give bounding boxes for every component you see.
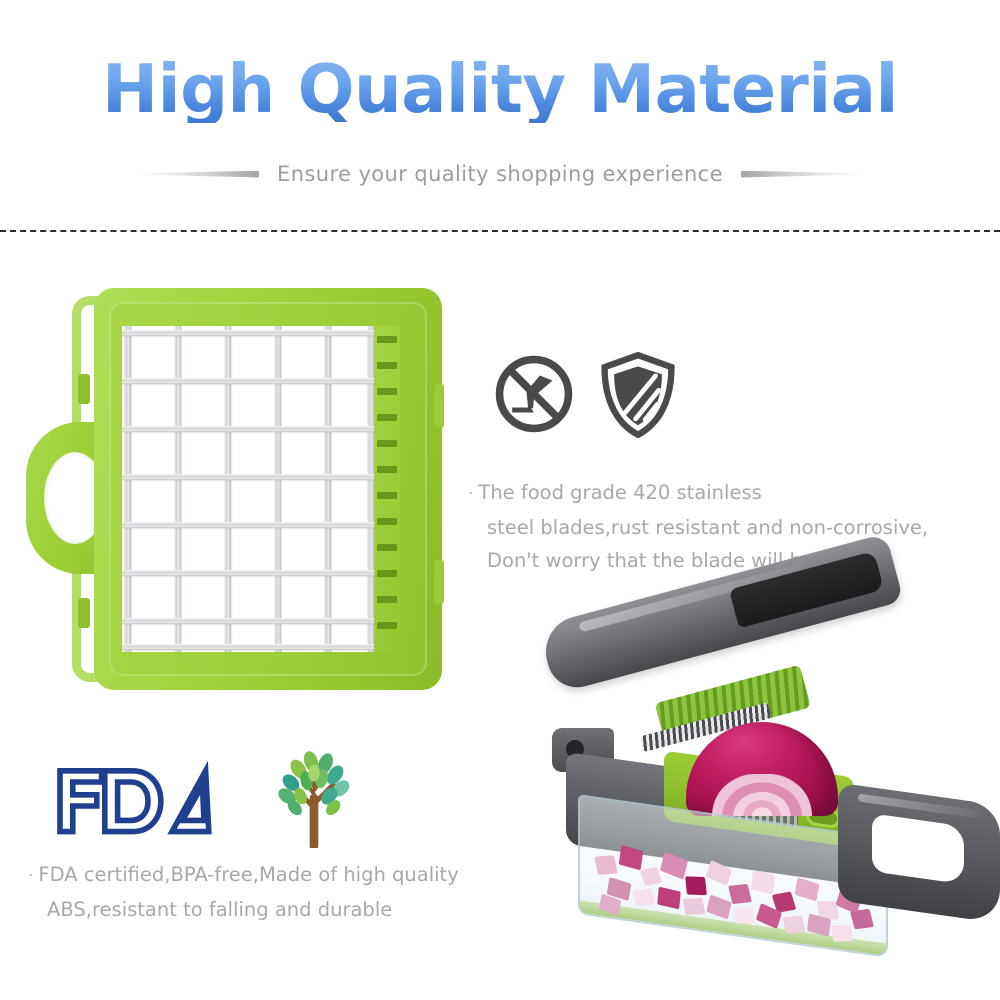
vertical-blade	[274, 326, 281, 652]
blade-slot	[377, 544, 397, 551]
vertical-blade	[367, 326, 374, 652]
onion-dice	[782, 916, 805, 934]
onion-rings	[712, 774, 812, 816]
onion-dice	[685, 876, 707, 895]
horizontal-blade	[122, 618, 400, 624]
fda-logo	[52, 758, 220, 843]
onion-dice	[706, 860, 732, 886]
vertical-blade	[224, 326, 231, 652]
insert-tab	[78, 374, 90, 404]
blade-feature-line-2-wrap: steel blades,rust resistant and non-corr…	[468, 511, 928, 544]
blade-slot	[377, 518, 397, 525]
no-bend-blade-icon	[492, 352, 576, 441]
insert-blade-slots	[374, 326, 400, 652]
blade-slot	[377, 440, 397, 447]
grip-highlight	[858, 793, 978, 818]
page-header: High Quality Material Ensure your qualit…	[0, 0, 1000, 232]
material-feature-line-2-wrap: ABS,resistant to falling and durable	[28, 893, 459, 926]
blade-slot	[377, 492, 397, 499]
dicing-blade-insert-image	[26, 288, 446, 690]
blade-slot	[377, 414, 397, 421]
horizontal-blade	[122, 474, 400, 480]
blade-feature-line-1: The food grade 420 stainless	[478, 481, 761, 504]
onion-dice	[728, 884, 752, 904]
horizontal-blade	[122, 644, 400, 650]
onion-dice	[619, 845, 644, 871]
insert-tab	[78, 598, 90, 628]
chopper-grip-handle	[838, 783, 1000, 924]
bullet-mark: ·	[28, 866, 38, 886]
insert-tab	[434, 560, 444, 604]
material-feature-line-1: FDA certified,BPA-free,Made of high qual…	[38, 863, 458, 886]
subtitle-rule-right	[741, 171, 861, 178]
onion-dice	[831, 925, 853, 942]
vertical-blade	[324, 326, 331, 652]
onion-dice	[594, 855, 617, 875]
material-feature-line-2: ABS,resistant to falling and durable	[47, 898, 392, 921]
blade-slot	[377, 466, 397, 473]
certification-icons	[52, 748, 362, 853]
bullet-mark: ·	[468, 484, 478, 504]
eco-tree-icon	[266, 748, 362, 853]
horizontal-blade	[122, 330, 400, 336]
subtitle-row: Ensure your quality shopping experience	[0, 162, 1000, 186]
blade-feature-line: ·The food grade 420 stainless	[468, 476, 928, 511]
blade-slot	[377, 570, 397, 577]
onion-dice	[657, 887, 680, 910]
red-onion	[686, 722, 838, 816]
onion-dice	[632, 888, 656, 907]
page-subtitle: Ensure your quality shopping experience	[277, 162, 723, 186]
onion-dice	[751, 870, 775, 895]
onion-dice	[850, 909, 874, 930]
horizontal-blade	[122, 378, 400, 384]
material-feature-line: ·FDA certified,BPA-free,Made of high qua…	[28, 858, 459, 893]
blade-slot	[377, 336, 397, 343]
onion-dice	[660, 852, 688, 880]
vegetable-chopper-image	[548, 618, 1000, 986]
blade-slot	[377, 596, 397, 603]
blade-slot	[377, 622, 397, 629]
blade-slot	[377, 388, 397, 395]
horizontal-blade	[122, 570, 400, 576]
onion-dice	[683, 898, 706, 915]
onion-dice	[640, 867, 662, 887]
onion-dice	[733, 907, 754, 924]
insert-tab	[434, 384, 444, 428]
page-title: High Quality Material	[0, 56, 1000, 123]
vertical-blade	[124, 326, 131, 652]
blade-slot	[377, 362, 397, 369]
grip-hole	[872, 813, 964, 884]
blade-feature-icons	[492, 352, 678, 443]
vertical-blade	[174, 326, 181, 652]
section-divider	[0, 230, 1000, 232]
horizontal-blade	[122, 522, 400, 528]
material-feature-text: ·FDA certified,BPA-free,Made of high qua…	[28, 858, 459, 926]
horizontal-blade	[122, 426, 400, 432]
onion-dice	[706, 895, 731, 920]
onion-dice	[795, 877, 820, 901]
insert-blade-grid	[122, 326, 400, 652]
subtitle-rule-left	[139, 171, 259, 178]
shield-icon	[598, 352, 678, 443]
product-feature-page: High Quality Material Ensure your qualit…	[0, 0, 1000, 1000]
blade-feature-line-2: steel blades,rust resistant and non-corr…	[487, 516, 928, 539]
